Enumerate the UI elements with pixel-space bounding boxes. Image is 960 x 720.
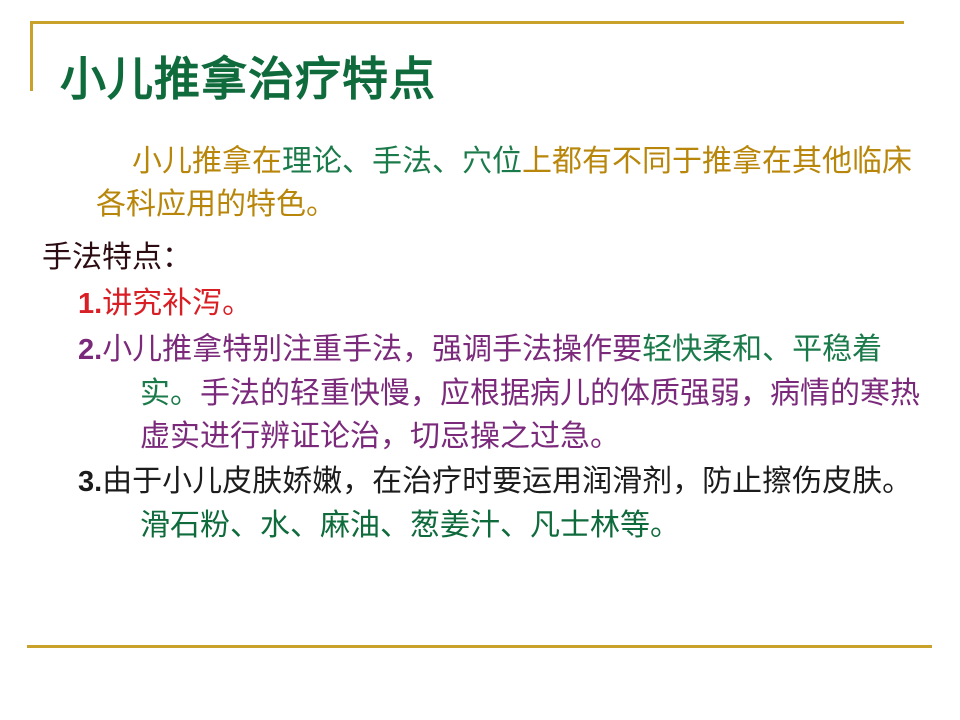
bottom-border-rule [27,645,932,648]
lead-paragraph: 小儿推拿在理论、手法、穴位上都有不同于推拿在其他临床各科应用的特色。 [36,140,926,226]
lead-run-1: 小儿推拿在 [132,145,282,178]
list-item: 3.由于小儿皮肤娇嫩，在治疗时要运用润滑剂，防止擦伤皮肤。滑石粉、水、麻油、葱姜… [36,460,926,547]
list-item-marker: 3. [78,466,102,498]
slide-title: 小儿推拿治疗特点 [60,52,436,108]
list-item-run-2: 滑石粉、水、麻油、葱姜汁、凡士林等。 [140,509,680,542]
list-item-run-3: 手法的轻重快慢，应根据病儿的体质强弱，病情的寒热虚实进行辨证论治，切忌操之过急。 [140,377,920,453]
list-item-marker: 2. [78,334,102,366]
slide-body: 小儿推拿在理论、手法、穴位上都有不同于推拿在其他临床各科应用的特色。 手法特点：… [36,140,926,547]
list-item-run-1: 由于小儿皮肤娇嫩，在治疗时要运用润滑剂，防止擦伤皮肤。 [102,465,912,498]
list-item-run-1: 小儿推拿特别注重手法，强调手法操作要 [102,333,642,366]
list-item-marker: 1. [78,288,102,320]
lead-run-2: 理论、手法、穴位 [282,145,522,178]
feature-list: 1.讲究补泻。 2.小儿推拿特别注重手法，强调手法操作要轻快柔和、平稳着实。手法… [36,282,926,547]
left-border-rule [30,21,33,91]
list-item: 1.讲究补泻。 [36,282,926,326]
section-heading: 手法特点： [36,236,926,280]
top-border-rule [30,21,904,24]
slide-canvas: 小儿推拿治疗特点 小儿推拿在理论、手法、穴位上都有不同于推拿在其他临床各科应用的… [0,0,960,720]
list-item: 2.小儿推拿特别注重手法，强调手法操作要轻快柔和、平稳着实。手法的轻重快慢，应根… [36,328,926,458]
list-item-run-1: 讲究补泻。 [102,287,252,320]
